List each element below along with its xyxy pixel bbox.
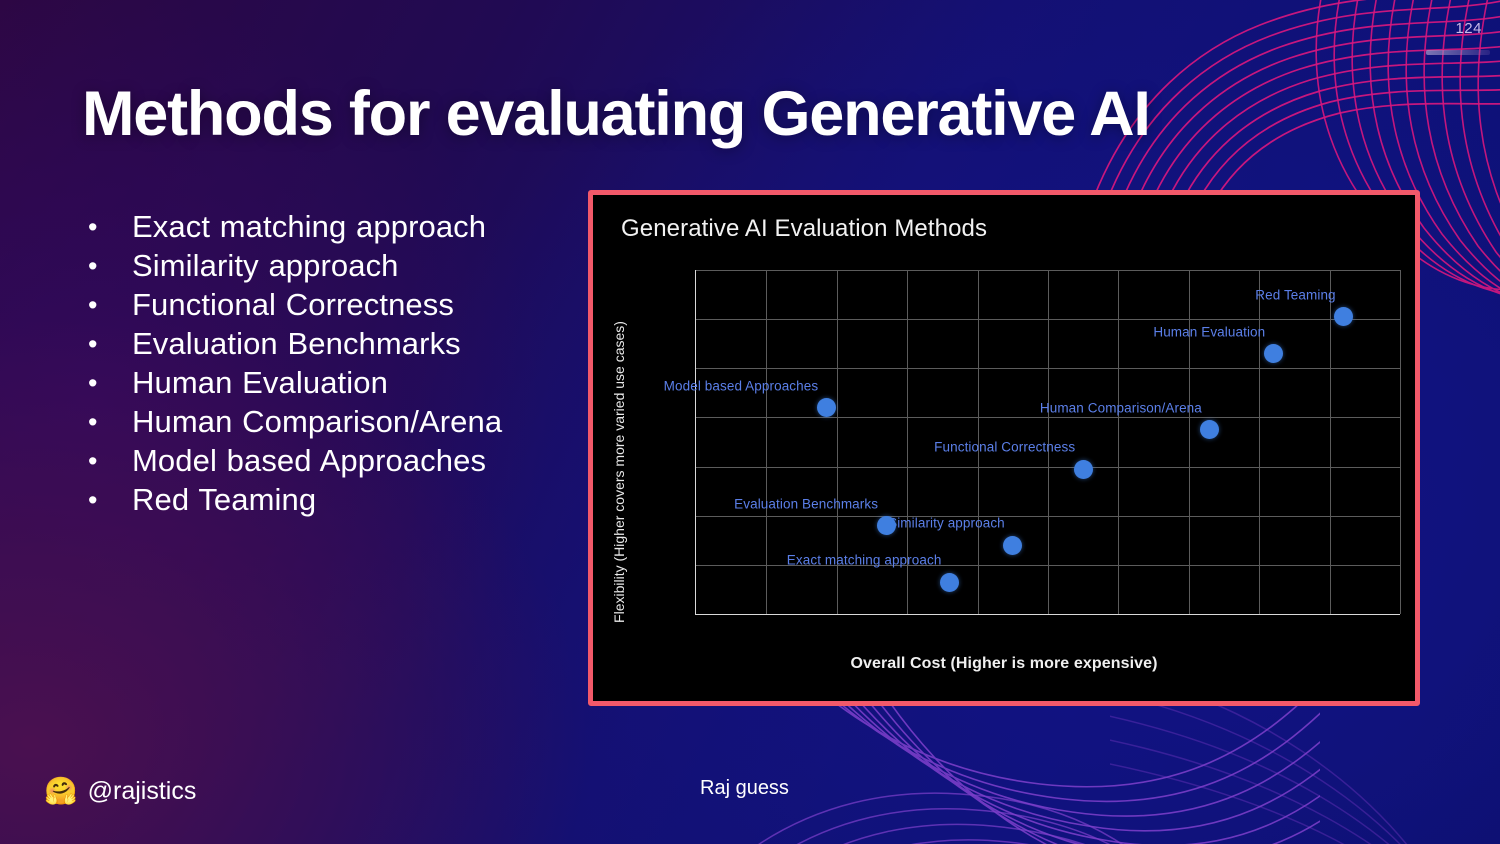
- slide-title: Methods for evaluating Generative AI: [82, 78, 1150, 150]
- scatter-point-label: Red Teaming: [1255, 287, 1335, 302]
- bullet-item-label: Similarity approach: [132, 247, 399, 285]
- scatter-point: [940, 573, 959, 592]
- scatter-point: [1264, 344, 1283, 363]
- grid-line-horizontal: [696, 417, 1400, 418]
- slide-canvas: 124 Methods for evaluating Generative AI…: [0, 0, 1500, 844]
- grid-line-horizontal: [696, 467, 1400, 468]
- bullet-marker-icon: •: [80, 286, 132, 324]
- chart-plot-area: Exact matching approachSimilarity approa…: [695, 270, 1400, 615]
- scatter-point-label: Similarity approach: [888, 516, 1005, 531]
- bullet-item: •Functional Correctness: [80, 286, 580, 324]
- footer-note: Raj guess: [700, 777, 789, 800]
- chart-card: Generative AI Evaluation Methods Flexibi…: [588, 190, 1420, 706]
- bullet-item-label: Functional Correctness: [132, 286, 454, 324]
- page-number-rule: [1426, 50, 1490, 55]
- hugging-face-emoji-icon: 🤗: [44, 778, 78, 805]
- scatter-point-label: Human Comparison/Arena: [1040, 400, 1202, 415]
- scatter-point-label: Model based Approaches: [664, 378, 819, 393]
- bullet-marker-icon: •: [80, 325, 132, 363]
- bullet-item: •Human Comparison/Arena: [80, 403, 580, 441]
- scatter-point-label: Functional Correctness: [934, 440, 1075, 455]
- grid-line-horizontal: [696, 319, 1400, 320]
- scatter-point: [817, 398, 836, 417]
- scatter-point-label: Human Evaluation: [1153, 324, 1265, 339]
- bullet-marker-icon: •: [80, 247, 132, 285]
- bullet-item: •Exact matching approach: [80, 208, 580, 246]
- chart-title: Generative AI Evaluation Methods: [621, 215, 987, 243]
- footer-handle-text: @rajistics: [88, 777, 197, 806]
- bullet-item: •Human Evaluation: [80, 364, 580, 402]
- grid-line-vertical: [1400, 270, 1401, 614]
- scatter-point: [1003, 536, 1022, 555]
- bullet-item-label: Evaluation Benchmarks: [132, 325, 461, 363]
- grid-line-vertical: [1330, 270, 1331, 614]
- chart-x-axis-label: Overall Cost (Higher is more expensive): [593, 655, 1415, 673]
- grid-line-vertical: [766, 270, 767, 614]
- grid-line-vertical: [1259, 270, 1260, 614]
- bullet-item-label: Exact matching approach: [132, 208, 486, 246]
- scatter-point-label: Exact matching approach: [787, 553, 942, 568]
- bullet-item: •Red Teaming: [80, 481, 580, 519]
- grid-line-vertical: [1118, 270, 1119, 614]
- grid-line-horizontal: [696, 368, 1400, 369]
- scatter-point: [1074, 460, 1093, 479]
- chart-y-axis-label: Flexibility (Higher covers more varied u…: [611, 289, 633, 655]
- scatter-point: [1200, 420, 1219, 439]
- scatter-point: [1334, 307, 1353, 326]
- bullet-list: •Exact matching approach•Similarity appr…: [80, 208, 580, 520]
- scatter-point: [877, 516, 896, 535]
- grid-line-vertical: [1189, 270, 1190, 614]
- bullet-marker-icon: •: [80, 481, 132, 519]
- bullet-item-label: Human Comparison/Arena: [132, 403, 502, 441]
- scatter-point-label: Evaluation Benchmarks: [734, 496, 878, 511]
- bullet-item: •Evaluation Benchmarks: [80, 325, 580, 363]
- grid-line-horizontal: [696, 516, 1400, 517]
- bullet-item-label: Human Evaluation: [132, 364, 388, 402]
- bullet-marker-icon: •: [80, 442, 132, 480]
- bullet-item-label: Red Teaming: [132, 481, 316, 519]
- bullet-marker-icon: •: [80, 208, 132, 246]
- bullet-item-label: Model based Approaches: [132, 442, 486, 480]
- page-number: 124: [1455, 20, 1482, 37]
- bullet-item: •Similarity approach: [80, 247, 580, 285]
- bullet-marker-icon: •: [80, 364, 132, 402]
- bullet-item: •Model based Approaches: [80, 442, 580, 480]
- grid-line-horizontal: [696, 270, 1400, 271]
- bullet-marker-icon: •: [80, 403, 132, 441]
- footer-handle: 🤗 @rajistics: [44, 777, 196, 806]
